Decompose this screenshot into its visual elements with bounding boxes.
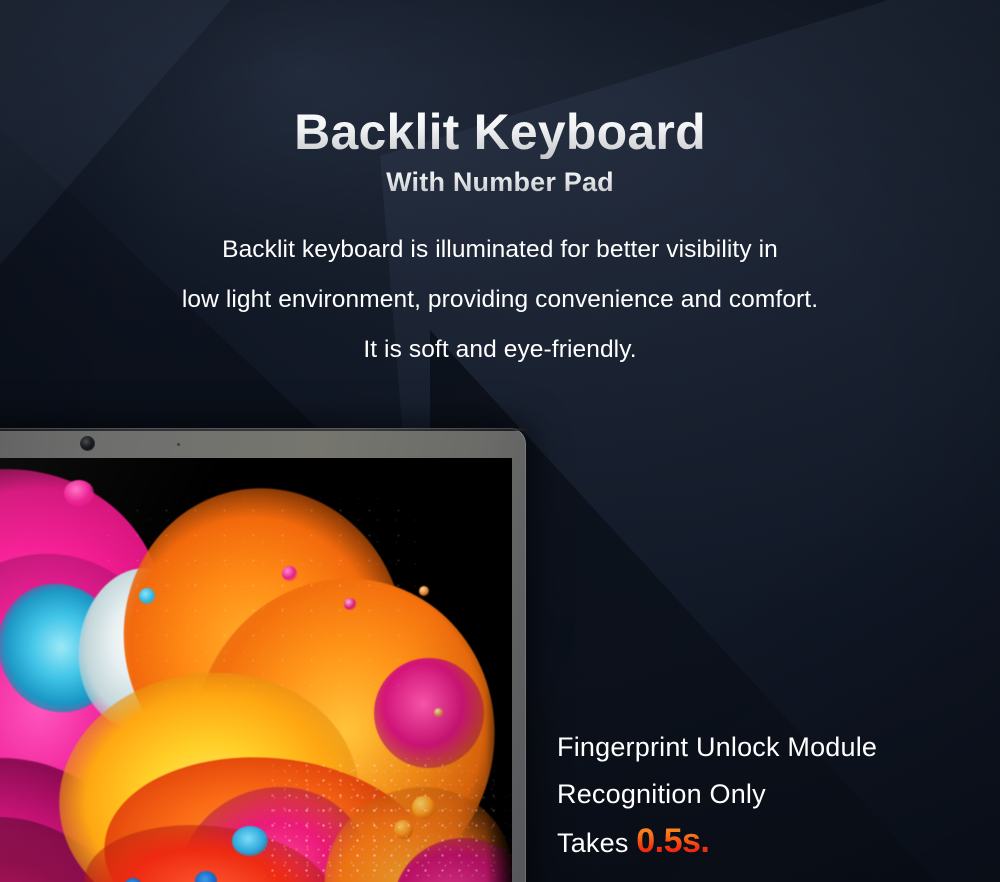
paint-droplet-cyan — [232, 826, 268, 856]
laptop-device — [0, 428, 526, 882]
fingerprint-line-3: Takes 0.5s. — [557, 818, 877, 867]
page-subtitle: With Number Pad — [0, 167, 1000, 198]
paint-speckle-cloud — [264, 758, 512, 882]
paint-droplet-pink — [64, 480, 94, 506]
body-line-1: Backlit keyboard is illuminated for bett… — [0, 225, 1000, 275]
promo-banner: Backlit Keyboard With Number Pad Backlit… — [0, 0, 1000, 882]
paint-droplet-tan — [434, 708, 443, 717]
hero-heading-group: Backlit Keyboard With Number Pad — [0, 106, 1000, 198]
fingerprint-takes-label: Takes — [557, 828, 636, 858]
body-line-2: low light environment, providing conveni… — [0, 275, 1000, 325]
laptop-screen — [0, 458, 512, 882]
paint-speckle-cloud — [94, 498, 424, 718]
fingerprint-line-2: Recognition Only — [557, 771, 877, 818]
hero-body-copy: Backlit keyboard is illuminated for bett… — [0, 225, 1000, 375]
body-line-3: It is soft and eye-friendly. — [0, 325, 1000, 375]
screen-wallpaper — [0, 458, 512, 882]
fingerprint-callout: Fingerprint Unlock Module Recognition On… — [557, 724, 877, 867]
fingerprint-line-1: Fingerprint Unlock Module — [557, 724, 877, 771]
page-title: Backlit Keyboard — [0, 106, 1000, 159]
fingerprint-speed-value: 0.5s. — [636, 822, 709, 860]
